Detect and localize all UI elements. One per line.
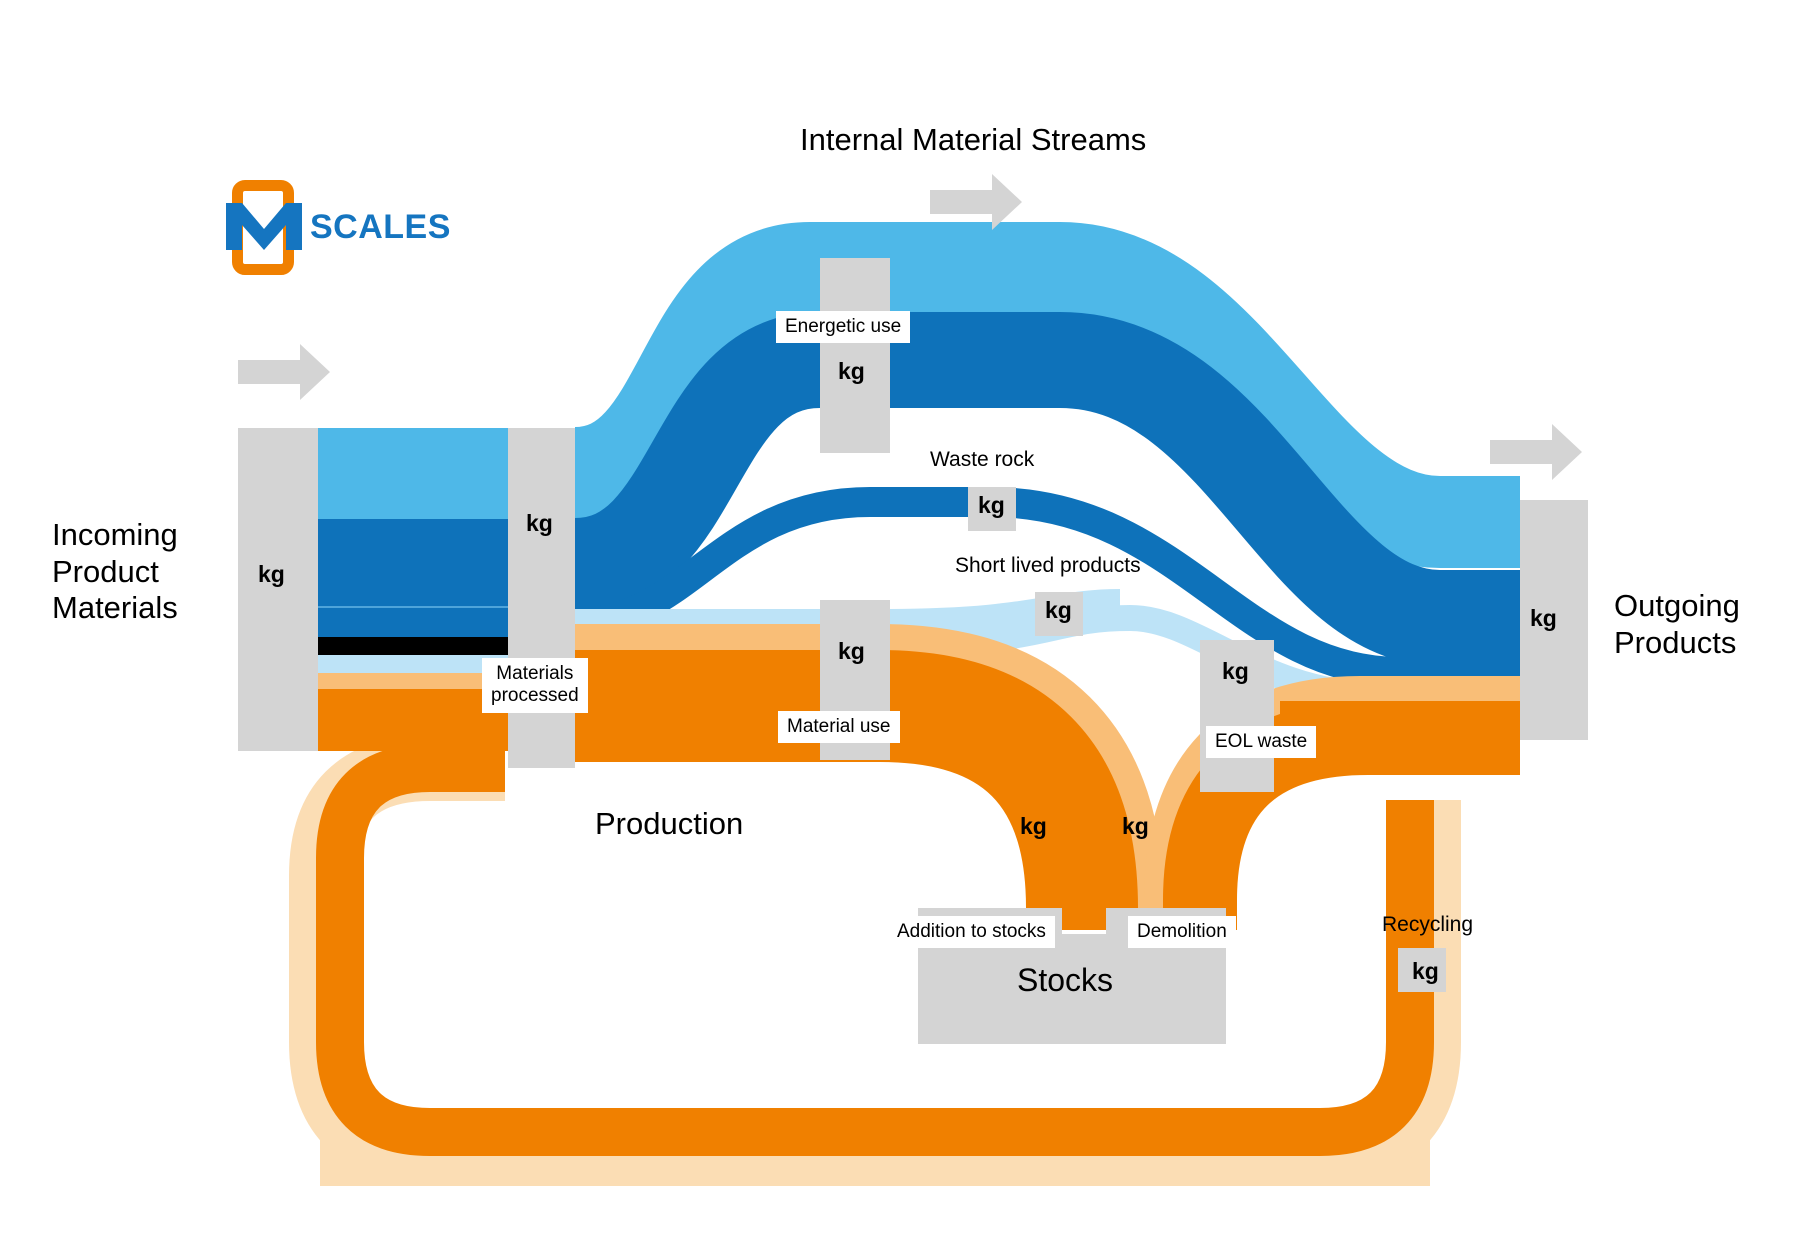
logo-wordmark: SCALES — [310, 208, 451, 247]
node-label-energetic-use[interactable]: Energetic use — [776, 311, 910, 343]
inflow-arrow-icon — [238, 344, 330, 400]
value-materials-processed-kg: kg — [526, 510, 553, 537]
value-energetic-use-kg: kg — [838, 358, 865, 385]
flow-incoming-energetic — [318, 428, 508, 519]
outflow-arrow-icon — [1490, 424, 1582, 480]
value-recycling-kg: kg — [1412, 958, 1439, 985]
value-eol-waste-kg: kg — [1222, 658, 1249, 685]
flow-incoming-black-band — [318, 637, 508, 655]
label-stocks: Stocks — [1017, 962, 1113, 1000]
flow-incoming-wasterock-lower — [318, 609, 508, 637]
flow-incoming-wasterock — [318, 519, 508, 612]
logo-m-icon — [226, 203, 302, 250]
flow-label-waste-rock: Waste rock — [930, 448, 1034, 473]
sankey-diagram-canvas: SCALES Internal Material Streams Incomin… — [0, 0, 1800, 1250]
flow-incoming-pale-orange — [318, 673, 508, 689]
node-label-material-use[interactable]: Material use — [778, 711, 900, 743]
label-outgoing-products: Outgoing Products — [1614, 588, 1740, 661]
value-material-use-kg: kg — [838, 638, 865, 665]
flow-recycling-loop-outline — [322, 768, 1428, 1150]
node-label-eol-waste[interactable]: EOL waste — [1206, 726, 1316, 758]
value-addition-to-stocks-kg: kg — [1020, 813, 1047, 840]
flow-incoming-materialuse — [318, 689, 508, 751]
internal-arrow-icon — [930, 174, 1022, 230]
value-demolition-kg: kg — [1122, 813, 1149, 840]
label-incoming-product-materials: Incoming Product Materials — [52, 517, 178, 627]
node-label-addition-to-stocks[interactable]: Addition to stocks — [888, 916, 1055, 948]
value-outgoing-kg: kg — [1530, 605, 1557, 632]
node-label-demolition[interactable]: Demolition — [1128, 916, 1236, 948]
flow-label-short-lived-products: Short lived products — [955, 554, 1141, 579]
node-incoming-rect[interactable] — [238, 428, 318, 751]
node-energetic-use-rect[interactable] — [820, 258, 890, 453]
label-production: Production — [595, 806, 743, 843]
flow-label-recycling: Recycling — [1382, 913, 1473, 938]
value-waste-rock-kg: kg — [978, 492, 1005, 519]
value-incoming-kg: kg — [258, 561, 285, 588]
value-short-lived-kg: kg — [1045, 597, 1072, 624]
node-materials-processed-rect[interactable] — [508, 428, 575, 768]
node-label-materials-processed[interactable]: Materials processed — [482, 658, 588, 713]
flow-incoming-shortlived — [318, 655, 508, 673]
mscales-logo: SCALES — [232, 180, 437, 275]
page-title: Internal Material Streams — [800, 122, 1146, 159]
